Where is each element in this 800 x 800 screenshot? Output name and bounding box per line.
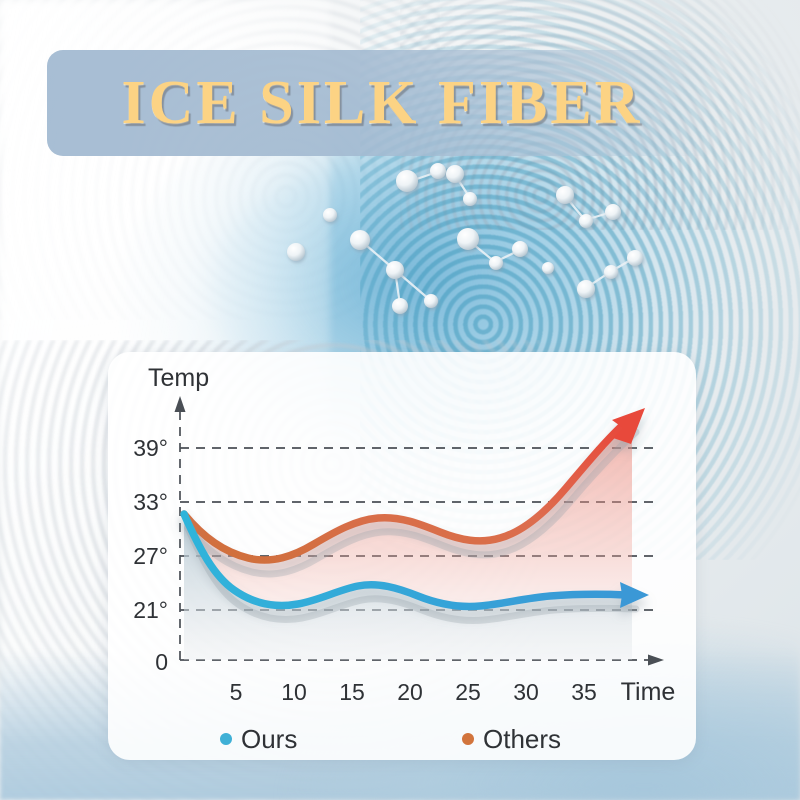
x-tick-35: 35 — [571, 679, 597, 705]
chart-legend: Ours Others — [108, 718, 696, 760]
y-tick-0: 0 — [155, 649, 168, 675]
legend-dot-ours — [220, 733, 232, 745]
temperature-comparison-chart: Temp 39° 33° 27° 21° 0 5 10 15 20 25 30 … — [108, 352, 696, 760]
x-tick-15: 15 — [339, 679, 365, 705]
chart-y-axis — [175, 396, 186, 660]
x-tick-25: 25 — [455, 679, 481, 705]
poster-stage: ICE SILK FIBER — [0, 0, 800, 800]
legend-label-others: Others — [483, 724, 561, 755]
x-tick-10: 10 — [281, 679, 307, 705]
chart-y-axis-title: Temp — [148, 364, 209, 392]
chart-x-axis-title: Time — [621, 678, 676, 706]
legend-item-others[interactable]: Others — [462, 724, 561, 755]
legend-dot-others — [462, 733, 474, 745]
page-title: ICE SILK FIBER — [47, 50, 717, 156]
legend-item-ours[interactable]: Ours — [220, 724, 297, 755]
y-tick-21: 21° — [133, 597, 168, 623]
y-tick-33: 33° — [133, 489, 168, 515]
legend-label-ours: Ours — [241, 724, 297, 755]
x-tick-30: 30 — [513, 679, 539, 705]
y-tick-27: 27° — [133, 543, 168, 569]
x-tick-20: 20 — [397, 679, 423, 705]
y-tick-39: 39° — [133, 435, 168, 461]
x-tick-5: 5 — [230, 679, 243, 705]
